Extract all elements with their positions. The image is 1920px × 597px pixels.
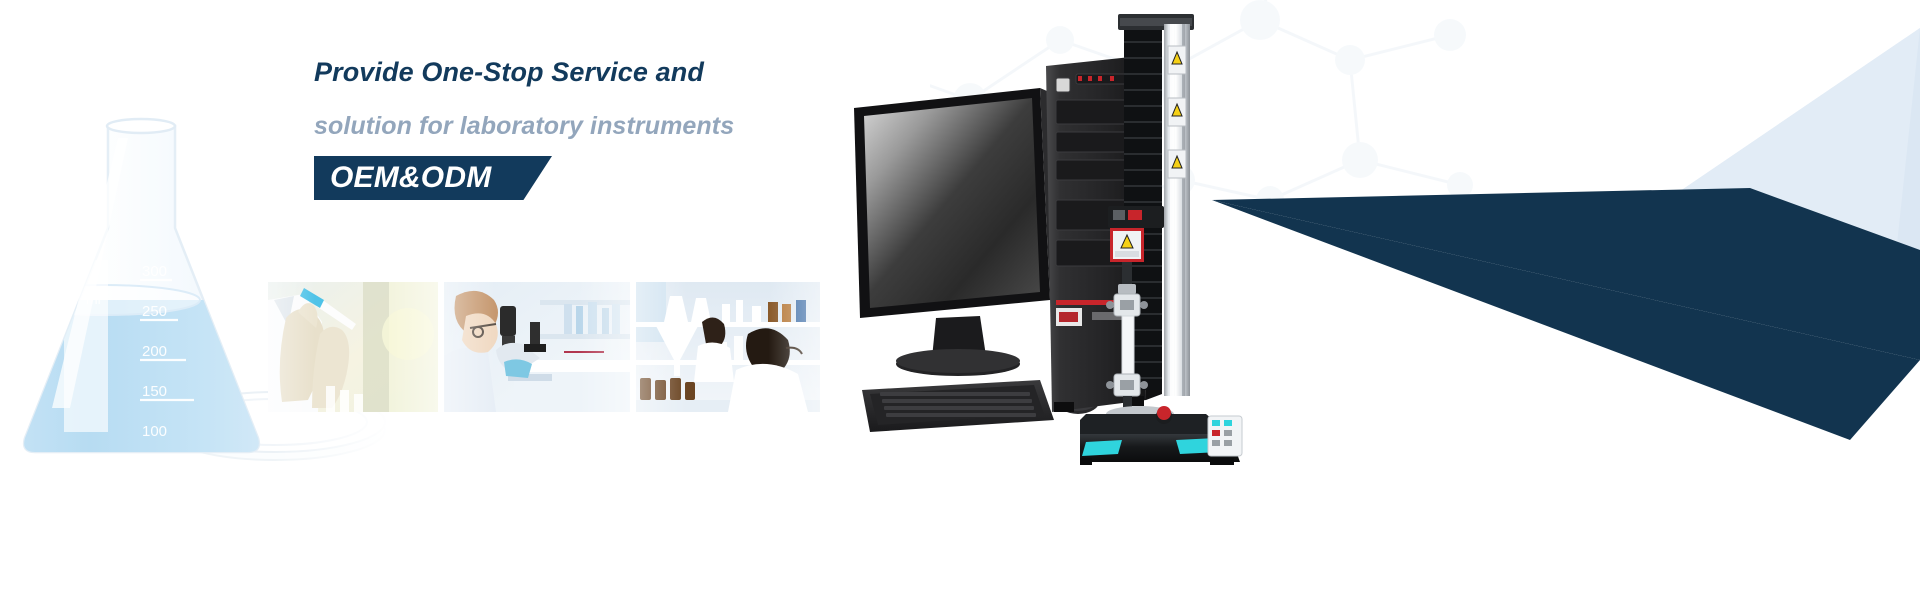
hero-banner: 300 250 200 150 100 ml Provide One-Stop …: [0, 0, 1920, 597]
photo-lab-bench: [636, 282, 820, 412]
oem-odm-tag: OEM&ODM: [314, 156, 552, 200]
warning-labels: [1168, 46, 1186, 178]
photo-strip: [268, 282, 820, 412]
keyboard: [862, 380, 1054, 432]
lcd-monitor: [854, 88, 1064, 376]
machine-base: [1080, 406, 1242, 465]
photo-pipetting: [268, 282, 438, 412]
light-blue-triangle-shape: [1645, 28, 1920, 320]
tensile-testing-machine: [1080, 10, 1270, 465]
oem-odm-tag-label: OEM&ODM: [314, 161, 491, 195]
photo-microscope: [444, 282, 630, 412]
